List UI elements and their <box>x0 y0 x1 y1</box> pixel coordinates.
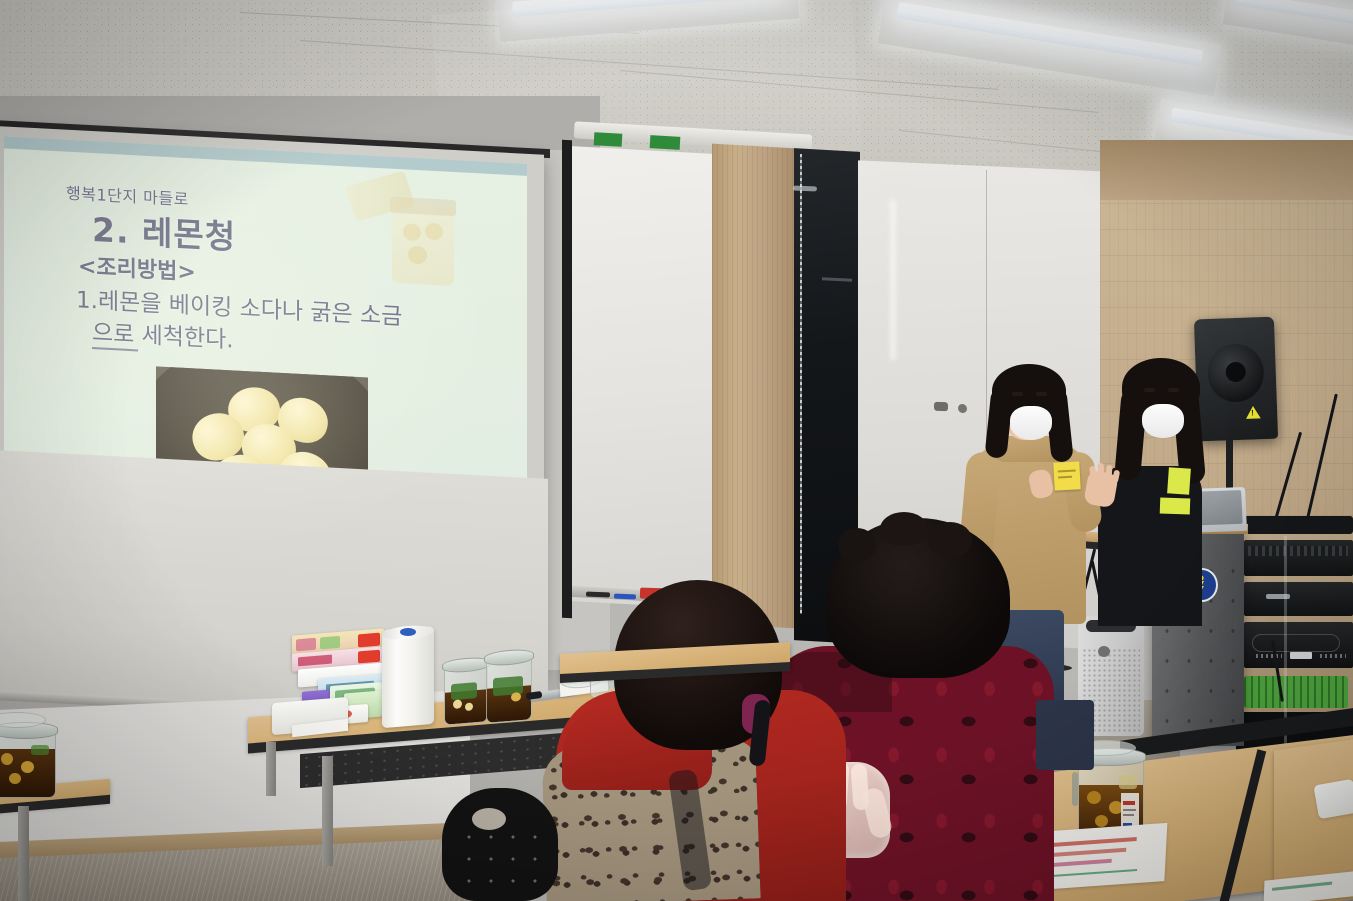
presenter-right-eye <box>1168 388 1179 392</box>
slide-section-label: <조리방법> <box>78 248 196 286</box>
jar-ingredient <box>1119 775 1137 789</box>
slide-step-number: 1. <box>76 286 98 317</box>
warning-mark: ! <box>1251 408 1254 417</box>
blind-stripe <box>594 132 623 147</box>
box-art <box>296 638 316 652</box>
slide-step-line2: 으로 세척한다. <box>92 319 234 356</box>
tissue[interactable] <box>1313 779 1353 819</box>
jar-fruit <box>1 753 13 765</box>
right-wall-top <box>1100 140 1353 200</box>
green-storage-basket[interactable] <box>1244 676 1348 708</box>
presenter-left-eye <box>1012 392 1023 396</box>
presenter-left-mask <box>1010 406 1052 440</box>
presenter-left-nametag <box>1053 461 1080 490</box>
blind-stripe <box>650 135 681 150</box>
presenter-right-mask <box>1142 404 1184 438</box>
bead-chain[interactable] <box>800 154 802 614</box>
jar-fruit <box>9 773 21 784</box>
hair-curl <box>928 522 972 558</box>
box-art <box>320 636 340 650</box>
jar-fruit <box>1087 791 1101 804</box>
amp-buttons[interactable] <box>1320 654 1346 658</box>
hair-curl <box>880 512 928 546</box>
presenter-right-eye <box>1144 388 1155 392</box>
jar-contents-greens <box>451 682 477 700</box>
wall-latch[interactable] <box>934 402 948 412</box>
lemon-syrup-jar[interactable] <box>0 730 56 798</box>
amp-buttons[interactable] <box>1256 654 1282 658</box>
paper-towel-core <box>400 628 416 636</box>
nametag-writing <box>1058 476 1072 479</box>
marker-blue[interactable] <box>614 594 636 600</box>
amp-display <box>1290 652 1312 659</box>
box-promo <box>358 633 380 648</box>
jar-greens <box>31 745 49 755</box>
amplifier <box>1244 622 1353 668</box>
nametag-writing <box>1058 470 1076 473</box>
finger <box>1098 463 1105 479</box>
hair-curl <box>838 528 876 562</box>
presenter-left-eye <box>1036 392 1047 396</box>
panel-highlight <box>890 200 896 360</box>
paper-towel-roll[interactable] <box>382 626 434 728</box>
whiteboard-frame-left <box>562 140 572 619</box>
table-leg <box>266 742 276 796</box>
rack-vents <box>1248 546 1348 556</box>
purifier-dial[interactable] <box>1098 646 1110 657</box>
jar-fruit <box>21 761 34 773</box>
glass-reflection <box>793 186 817 192</box>
classroom-photo: 행복1단지 마들로 2. 레몬청 <조리방법> 1. 레몬을 베이킹 소다나 굵… <box>0 0 1353 901</box>
presenter-right-nametag-lower <box>1160 497 1191 514</box>
table-leg <box>18 806 29 901</box>
handout-rule <box>1272 882 1332 891</box>
label-line <box>1123 814 1134 816</box>
jar-fruit <box>1095 815 1108 827</box>
amp-panel <box>1252 634 1340 652</box>
rack-equipment <box>1244 540 1353 576</box>
table-leg <box>322 756 333 866</box>
chair-perforation <box>458 826 544 892</box>
slide-lemon-slice <box>408 246 427 265</box>
wood-grain <box>712 144 796 629</box>
pickle-jar[interactable] <box>486 656 532 724</box>
label-red-text <box>1123 801 1135 805</box>
slide-jar-photo <box>392 205 454 286</box>
rack-equipment <box>1244 582 1353 616</box>
box-promo <box>358 650 380 664</box>
jar-clamp <box>1072 772 1078 806</box>
whiteboard <box>572 146 712 609</box>
slide-lemon-slice <box>425 222 443 240</box>
marker-black[interactable] <box>586 592 610 598</box>
presenter-left-legs <box>1036 700 1094 770</box>
slide-lemon-slice <box>403 223 421 241</box>
presenter-right-nametag <box>1167 467 1191 494</box>
wall-latch[interactable] <box>958 404 967 413</box>
box-text <box>298 655 332 667</box>
label-line <box>1123 809 1136 811</box>
pa-speaker: ! <box>1194 317 1278 442</box>
